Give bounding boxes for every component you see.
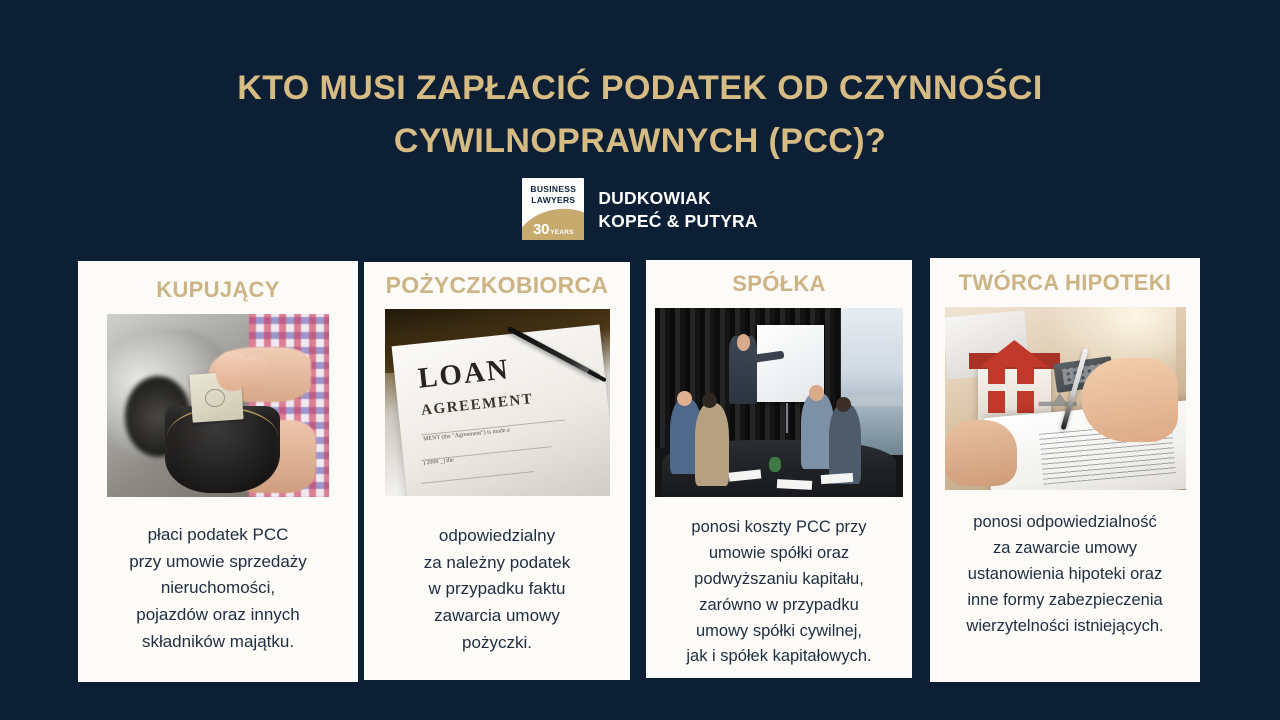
card-text-line: umowy spółki cywilnej, [686, 619, 871, 645]
card-title: TWÓRCA HIPOTEKI [959, 270, 1172, 296]
card-text-line: ponosi koszty PCC przy [686, 515, 871, 541]
card-photo-business-meeting [655, 308, 903, 497]
card-text-line: odpowiedzialny [424, 523, 571, 550]
paper-shape-2 [776, 479, 811, 490]
left-hand-shape [945, 420, 1017, 486]
card-photo-loan-agreement: LOAN AGREEMENT MENT (the "Agreement") is… [385, 309, 610, 496]
attendee-body-2 [695, 403, 730, 486]
page-title-line-2: CYWILNOPRAWNYCH (PCC)? [0, 115, 1280, 168]
card-text-line: w przypadku faktu [424, 576, 571, 603]
badge-top-text: BUSINESS LAWYERS [522, 184, 584, 205]
house-window-1 [988, 366, 1005, 384]
card-text-line: jak i spółek kapitałowych. [686, 644, 871, 670]
card-kupujacy: KUPUJĄCY płaci podatek PCC przy umowie s… [78, 261, 358, 682]
card-text-line: składników majątku. [129, 629, 307, 656]
firm-name-line-1: DUDKOWIAK [598, 187, 757, 210]
badge-line-2: LAWYERS [522, 195, 584, 206]
finger-shape-2 [240, 356, 269, 393]
card-title: SPÓŁKA [732, 271, 825, 297]
attendee-head-3 [809, 385, 824, 400]
house-window-4 [1017, 391, 1034, 413]
attendee-head-2 [702, 393, 717, 408]
card-body-text: odpowiedzialny za należny podatek w przy… [418, 523, 577, 656]
card-photo-wallet-cash [107, 314, 329, 497]
card-text-line: przy umowie sprzedaży [129, 549, 307, 576]
flipchart-leg-shape [786, 403, 788, 433]
card-text-line: pojazdów oraz innych [129, 602, 307, 629]
card-text-line: podwyższaniu kapitału, [686, 567, 871, 593]
card-text-line: inne formy zabezpieczenia [966, 588, 1163, 614]
card-text-line: nieruchomości, [129, 575, 307, 602]
card-text-line: ponosi odpowiedzialność [966, 510, 1163, 536]
card-text-line: za należny podatek [424, 550, 571, 577]
card-body-text: płaci podatek PCC przy umowie sprzedaży … [123, 522, 313, 655]
house-window-2 [1017, 366, 1034, 384]
page-title-line-1: KTO MUSI ZAPŁACIĆ PODATEK OD CZYNNOŚCI [0, 62, 1280, 115]
badge-years-word: YEARS [550, 229, 573, 236]
badge-line-1: BUSINESS [522, 184, 584, 195]
brand-logo: BUSINESS LAWYERS 30YEARS DUDKOWIAK KOPEĆ… [0, 178, 1280, 240]
card-text-line: wierzytelności istniejących. [966, 614, 1163, 640]
signing-hand-shape [1082, 358, 1178, 442]
attendee-head-4 [836, 397, 851, 412]
page-title: KTO MUSI ZAPŁACIĆ PODATEK OD CZYNNOŚCI C… [0, 62, 1280, 167]
card-pozyczkobiorca: POŻYCZKOBIORCA LOAN AGREEMENT MENT (the … [364, 262, 630, 680]
card-text-line: płaci podatek PCC [129, 522, 307, 549]
card-photo-signing-mortgage [945, 307, 1186, 490]
badge-years-number: 30 [533, 221, 549, 238]
card-body-text: ponosi koszty PCC przy umowie spółki ora… [680, 515, 877, 670]
card-tworca-hipoteki: TWÓRCA HIPOTEKI ponosi odpowiedzialność … [930, 258, 1200, 682]
card-text-line: umowie spółki oraz [686, 541, 871, 567]
card-text-line: za zawarcie umowy [966, 536, 1163, 562]
card-text-line: zawarcia umowy [424, 603, 571, 630]
business-lawyers-badge-icon: BUSINESS LAWYERS 30YEARS [522, 178, 584, 240]
card-body-text: ponosi odpowiedzialność za zawarcie umow… [960, 510, 1169, 639]
card-text-line: ustanowienia hipoteki oraz [966, 562, 1163, 588]
house-window-3 [988, 391, 1005, 413]
attendee-body-4 [829, 404, 861, 483]
card-spolka: SPÓŁKA ponosi koszty PCC przy umowie spó… [646, 260, 912, 678]
card-title: POŻYCZKOBIORCA [386, 272, 609, 299]
badge-anniversary: 30YEARS [522, 222, 584, 238]
firm-name-line-2: KOPEĆ & PUTYRA [598, 210, 757, 233]
card-text-line: zarówno w przypadku [686, 593, 871, 619]
card-title: KUPUJĄCY [156, 277, 279, 303]
firm-name: DUDKOWIAK KOPEĆ & PUTYRA [598, 185, 757, 233]
card-text-line: pożyczki. [424, 630, 571, 657]
